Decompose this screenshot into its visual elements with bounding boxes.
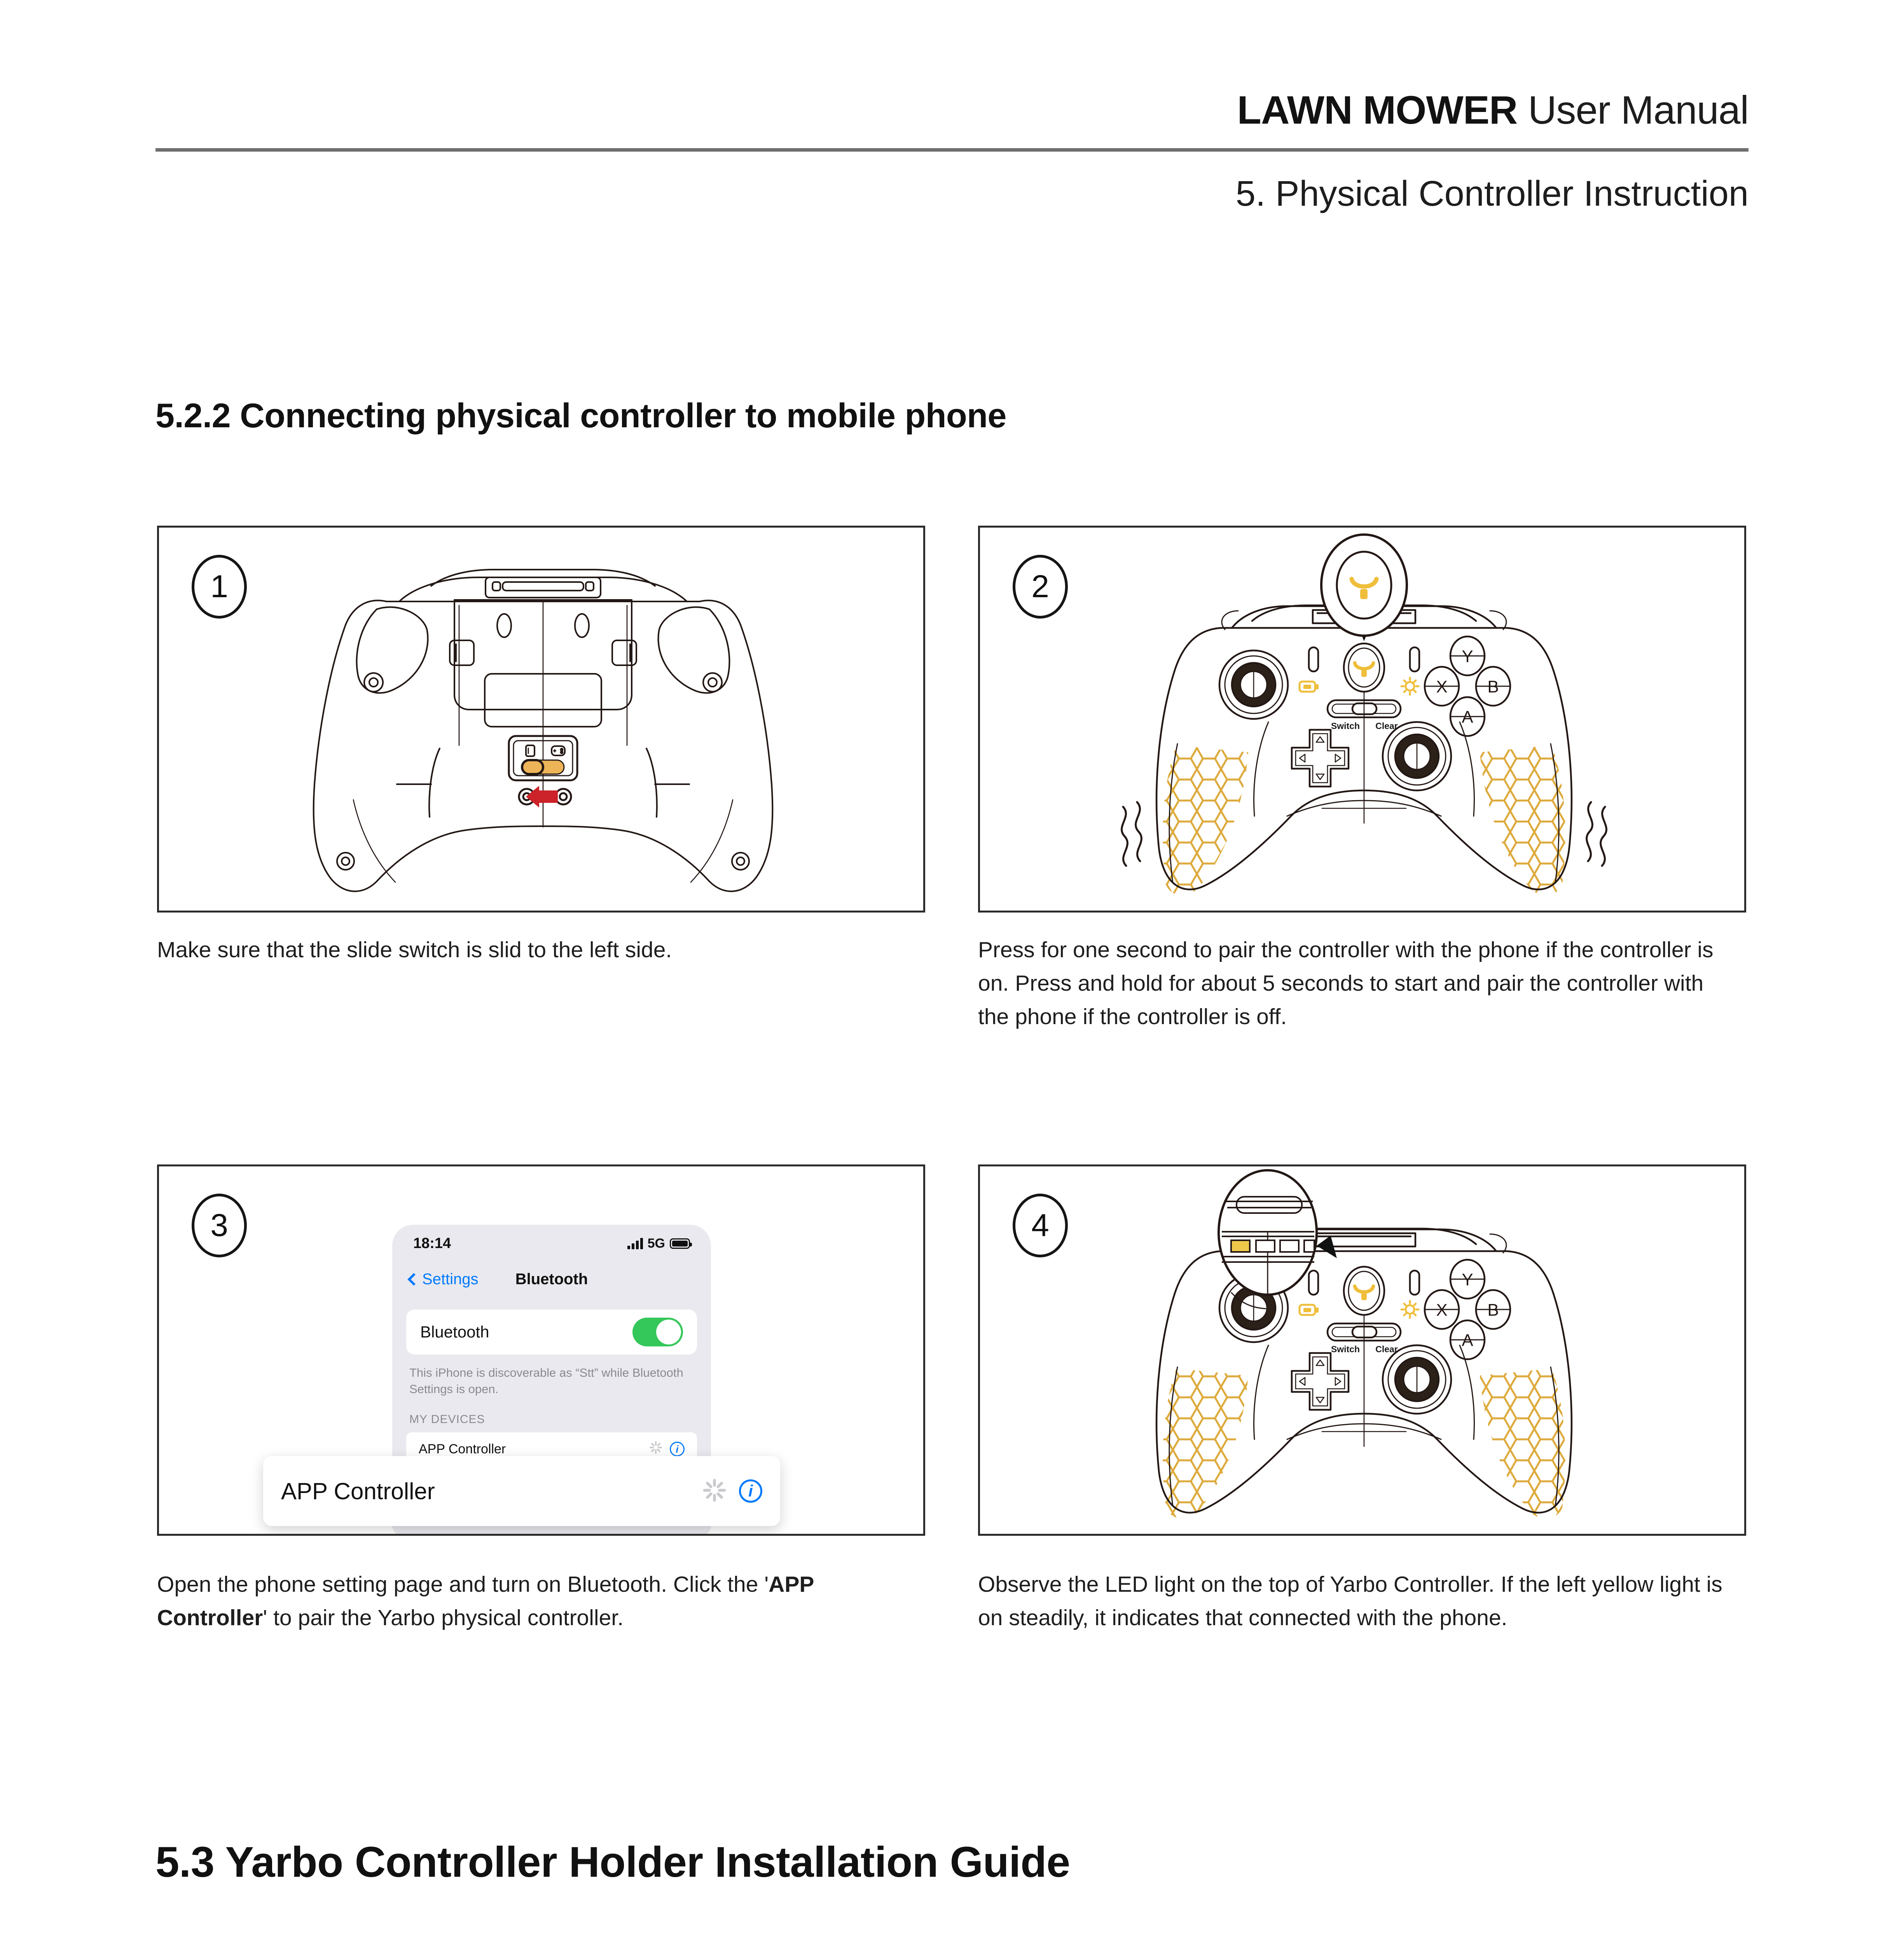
step-badge-3: 3 (192, 1194, 247, 1257)
yarbo-logo-icon (1355, 1286, 1373, 1300)
caption-3-pre: Open the phone setting page and turn on … (157, 1572, 769, 1597)
zoom-callout-led-strip (1219, 1170, 1337, 1309)
chevron-left-icon (407, 1273, 420, 1286)
header-title: LAWN MOWER User Manual (155, 89, 1749, 131)
brand-name: LAWN MOWER (1237, 88, 1518, 132)
button-y: Y (1462, 647, 1473, 666)
brightness-icon (1401, 678, 1418, 695)
bluetooth-label: Bluetooth (420, 1323, 489, 1341)
status-time: 18:14 (413, 1235, 451, 1252)
zoom-callout-home-button (1321, 535, 1407, 641)
figure-panel-4: 4 (978, 1164, 1746, 1536)
device-name: APP Controller (419, 1442, 506, 1457)
figure-panel-1: 1 (157, 526, 925, 913)
step-badge-2: 2 (1013, 555, 1068, 619)
back-label: Settings (422, 1271, 479, 1288)
bluetooth-toggle[interactable] (632, 1318, 683, 1346)
manual-page: LAWN MOWER User Manual 5. Physical Contr… (0, 0, 1904, 1944)
zoomed-device-name: APP Controller (281, 1478, 435, 1505)
controller-front-illustration: Switch Clear Y X B A (980, 528, 1744, 911)
figure-panel-3: 3 18:14 5G Settings Bluetooth Bluetooth (157, 1164, 925, 1536)
label-switch: Switch (1331, 721, 1360, 731)
figure-caption-1: Make sure that the slide switch is slid … (157, 933, 973, 967)
section-heading-522: 5.2.2 Connecting physical controller to … (155, 396, 1006, 435)
phone-nav-bar: Settings Bluetooth (392, 1262, 711, 1296)
label-switch: Switch (1331, 1344, 1360, 1354)
signal-bars-icon (627, 1238, 643, 1249)
button-x: X (1436, 677, 1447, 696)
button-a: A (1462, 1331, 1473, 1350)
figure-caption-3: Open the phone setting page and turn on … (157, 1568, 888, 1635)
section-heading-53: 5.3 Yarbo Controller Holder Installation… (155, 1837, 1070, 1887)
zoom-callout-app-controller[interactable]: APP Controller i (263, 1456, 780, 1526)
button-y: Y (1462, 1270, 1473, 1289)
led-segment-off (1304, 1240, 1314, 1252)
my-devices-header: MY DEVICES (409, 1413, 694, 1426)
button-x: X (1436, 1301, 1447, 1320)
figure-panel-2: 2 (978, 526, 1746, 913)
figure-caption-2: Press for one second to pair the control… (978, 933, 1728, 1033)
network-type: 5G (648, 1236, 665, 1251)
button-b: B (1487, 677, 1499, 696)
battery-icon (670, 1238, 690, 1249)
phone-status-bar: 18:14 5G (392, 1225, 711, 1262)
caption-3-post: ' to pair the Yarbo physical controller. (263, 1605, 624, 1630)
header-divider (155, 148, 1749, 152)
back-to-settings-link[interactable]: Settings (409, 1271, 479, 1288)
button-a: A (1462, 708, 1473, 727)
yarbo-logo-icon (1355, 663, 1373, 677)
led-segment-on (1231, 1240, 1250, 1252)
label-clear: Clear (1375, 1344, 1398, 1354)
led-segment-off (1256, 1240, 1275, 1252)
info-icon[interactable]: i (670, 1442, 685, 1456)
discoverable-note: This iPhone is discoverable as “Stt” whi… (409, 1365, 694, 1397)
controller-back-illustration (159, 528, 923, 911)
figure-caption-4: Observe the LED light on the top of Yarb… (978, 1568, 1728, 1635)
step-badge-1: 1 (192, 555, 247, 619)
brightness-icon (1401, 1301, 1418, 1318)
chapter-title: 5. Physical Controller Instruction (155, 173, 1749, 214)
battery-icon (1300, 1305, 1319, 1315)
battery-icon (1300, 682, 1319, 692)
bluetooth-toggle-row[interactable]: Bluetooth (406, 1309, 697, 1355)
document-type: User Manual (1528, 88, 1749, 132)
button-b: B (1487, 1301, 1499, 1320)
spinner-icon (702, 1477, 727, 1505)
page-header: LAWN MOWER User Manual 5. Physical Contr… (155, 89, 1749, 214)
spinner-icon (649, 1441, 663, 1458)
controller-led-illustration: Switch Clear Y X B A (980, 1166, 1744, 1534)
step-badge-4: 4 (1013, 1194, 1068, 1257)
info-icon[interactable]: i (739, 1479, 762, 1503)
led-segment-off (1280, 1240, 1299, 1252)
label-clear: Clear (1375, 721, 1398, 731)
